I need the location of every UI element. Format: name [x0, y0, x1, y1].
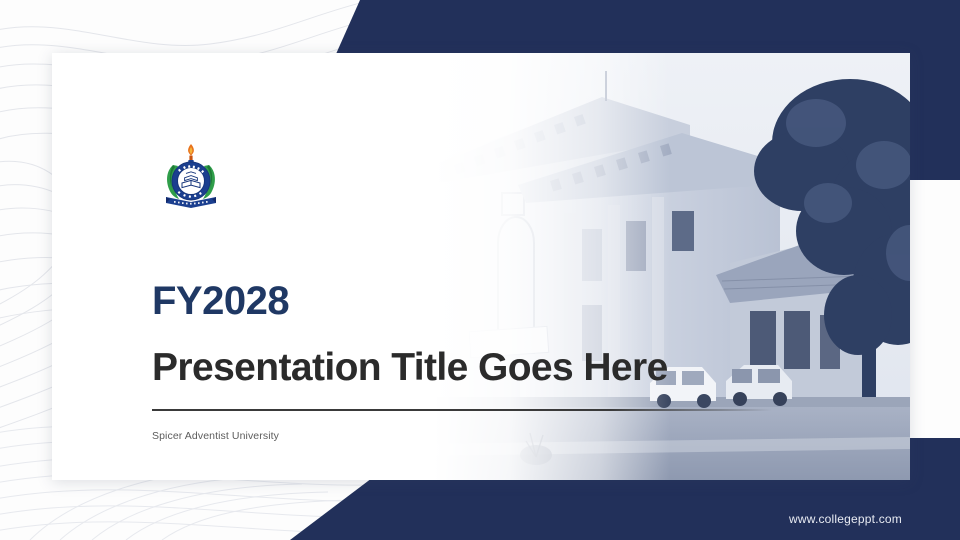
footer-website-url: www.collegeppt.com — [789, 512, 902, 526]
photo-left-fade-overlay — [350, 53, 670, 480]
page-title: Presentation Title Goes Here — [152, 347, 668, 389]
slide-content-card: FY2028 Presentation Title Goes Here Spic… — [52, 53, 910, 480]
institution-name: Spicer Adventist University — [152, 430, 279, 442]
university-crest-logo — [160, 141, 222, 211]
presentation-slide: FY2028 Presentation Title Goes Here Spic… — [0, 0, 960, 540]
title-divider — [152, 409, 772, 411]
campus-photo-container — [350, 53, 910, 480]
fiscal-year-heading: FY2028 — [152, 281, 289, 321]
